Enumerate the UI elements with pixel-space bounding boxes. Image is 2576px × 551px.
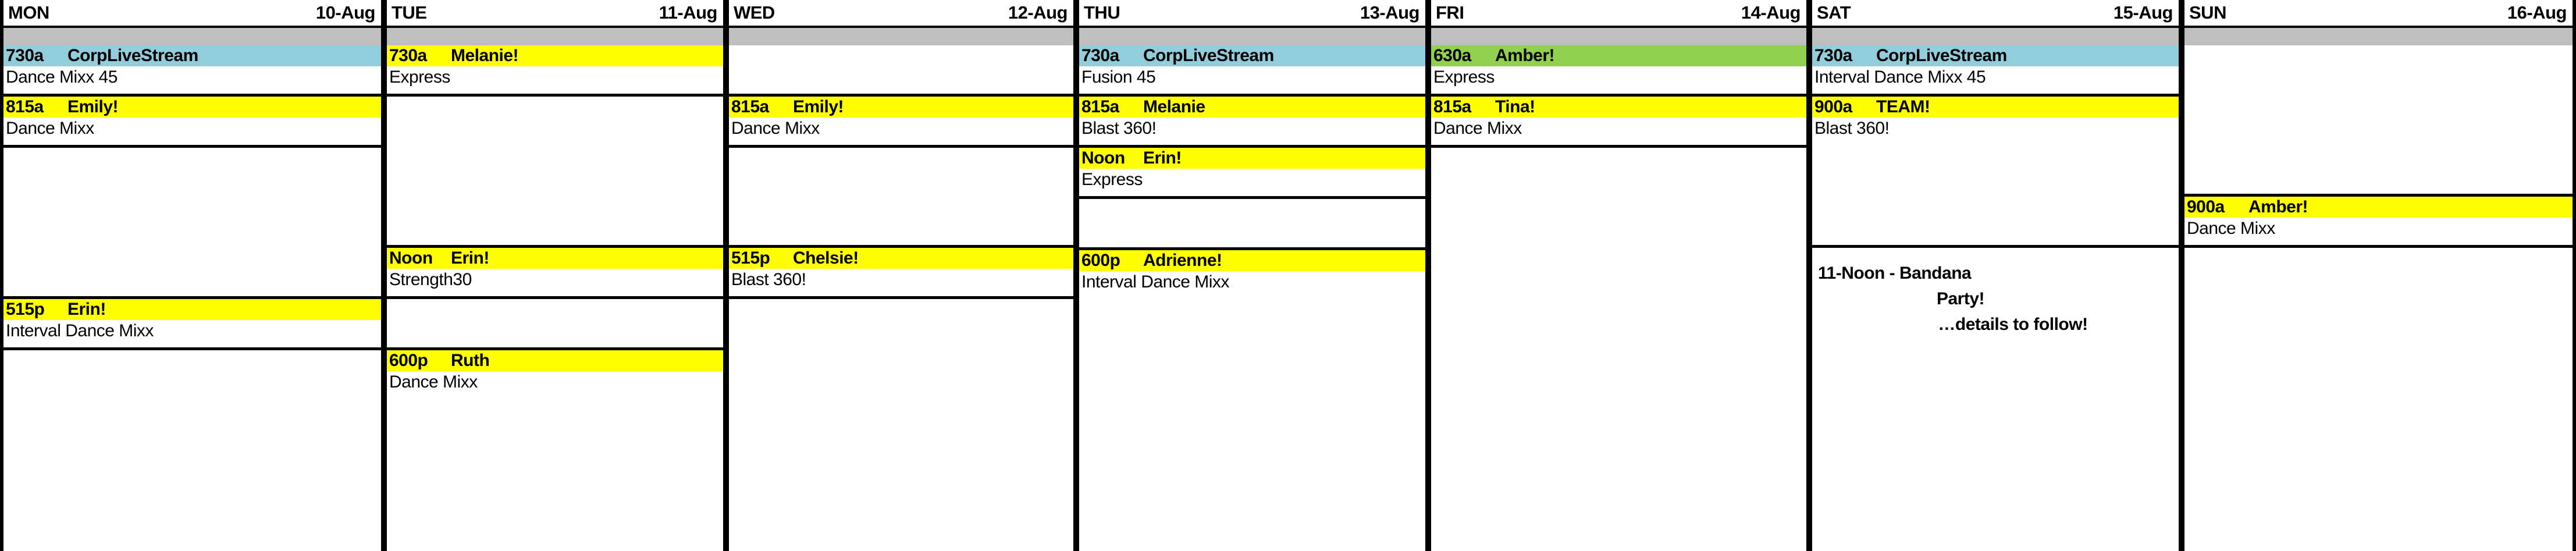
class-instructor: TEAM!	[1876, 97, 1930, 118]
class-name: Blast 360!	[729, 269, 1073, 291]
class-slot-filler	[729, 140, 1073, 145]
class-slot-header: 630aAmber!	[1431, 45, 1806, 66]
class-slot-header: 730aCorpLiveStream	[1812, 45, 2179, 66]
day-header-thu: THU13-Aug	[1079, 0, 1425, 28]
class-instructor: Ruth	[451, 350, 489, 371]
class-time: 900a	[1814, 97, 1876, 118]
class-slot-filler	[387, 88, 723, 94]
class-time: 600p	[1081, 250, 1143, 271]
class-time: 515p	[731, 248, 793, 269]
class-blocks-thu: 730aCorpLiveStreamFusion 45815aMelanieBl…	[1079, 45, 1425, 551]
class-slot-header: 815aMelanie	[1079, 97, 1425, 118]
day-date-label: 13-Aug	[1360, 0, 1419, 26]
class-name: Strength30	[387, 269, 723, 291]
class-time: 815a	[1433, 97, 1495, 118]
day-name-label: WED	[734, 0, 775, 26]
day-date-label: 14-Aug	[1741, 0, 1801, 26]
empty-slot[interactable]	[1431, 148, 1806, 551]
empty-slot[interactable]	[2184, 45, 2573, 197]
class-slot-filler	[1431, 88, 1806, 94]
class-time: 730a	[1814, 45, 1876, 66]
day-date-label: 10-Aug	[316, 0, 375, 26]
class-name: Interval Dance Mixx	[1079, 271, 1425, 293]
class-instructor: Tina!	[1495, 97, 1535, 118]
event-note-block[interactable]: 11-Noon - BandanaParty!…details to follo…	[1812, 248, 2179, 551]
empty-slot-area	[729, 45, 1073, 94]
empty-slot-area	[3, 148, 381, 296]
class-slot-filler	[387, 291, 723, 296]
day-header-tue: TUE11-Aug	[387, 0, 723, 28]
class-slot-filler	[729, 291, 1073, 296]
day-header-fri: FRI14-Aug	[1431, 0, 1806, 28]
class-slot-header: 600pRuth	[387, 350, 723, 371]
spacer-band-tue	[387, 28, 723, 45]
day-date-label: 12-Aug	[1008, 0, 1068, 26]
class-blocks-sun: 900aAmber!Dance Mixx	[2184, 45, 2573, 551]
empty-slot-area	[3, 350, 381, 551]
event-note-line: 11-Noon - Bandana	[1816, 261, 2175, 286]
class-slot-filler	[1079, 293, 1425, 551]
empty-slot-area	[387, 97, 723, 245]
empty-slot[interactable]	[3, 350, 381, 551]
class-slot-header: NoonErin!	[1079, 148, 1425, 169]
class-slot-filler	[1079, 191, 1425, 196]
spacer-band-fri	[1431, 28, 1806, 45]
class-name: Dance Mixx	[1431, 118, 1806, 140]
empty-slot[interactable]	[3, 148, 381, 299]
class-instructor: Melanie	[1143, 97, 1205, 118]
class-name: Express	[1079, 169, 1425, 191]
class-instructor: CorpLiveStream	[67, 45, 198, 66]
class-slot-header: 515pErin!	[3, 299, 381, 320]
day-column-sat: SAT15-Aug730aCorpLiveStreamInterval Danc…	[1809, 0, 2182, 551]
day-header-wed: WED12-Aug	[729, 0, 1073, 28]
class-blocks-fri: 630aAmber!Express815aTina!Dance Mixx	[1431, 45, 1806, 551]
class-slot-filler	[387, 393, 723, 551]
event-note: 11-Noon - BandanaParty!…details to follo…	[1812, 248, 2179, 337]
class-time: 630a	[1433, 45, 1495, 66]
class-instructor: CorpLiveStream	[1876, 45, 2007, 66]
class-slot[interactable]: 730aCorpLiveStreamInterval Dance Mixx 45	[1812, 45, 2179, 97]
class-time: Noon	[389, 248, 451, 269]
class-slot-filler	[3, 88, 381, 94]
class-instructor: Adrienne!	[1143, 250, 1222, 271]
class-name: Express	[387, 66, 723, 88]
class-time: 900a	[2187, 197, 2248, 218]
day-name-label: MON	[8, 0, 49, 26]
empty-slot[interactable]	[1079, 199, 1425, 250]
class-slot[interactable]: 600pAdrienne!Interval Dance Mixx	[1079, 250, 1425, 551]
empty-slot[interactable]	[729, 148, 1073, 248]
day-column-mon: MON10-Aug730aCorpLiveStreamDance Mixx 45…	[0, 0, 384, 551]
spacer-band-sun	[2184, 28, 2573, 45]
class-time: 815a	[731, 97, 793, 118]
class-slot[interactable]: NoonErin!Express	[1079, 148, 1425, 199]
class-name: Dance Mixx 45	[3, 66, 381, 88]
class-instructor: Erin!	[67, 299, 106, 320]
class-slot-header: 730aCorpLiveStream	[3, 45, 381, 66]
day-name-label: SUN	[2189, 0, 2226, 26]
empty-slot-area	[387, 299, 723, 347]
class-blocks-tue: 730aMelanie!ExpressNoonErin!Strength3060…	[387, 45, 723, 551]
class-instructor: Amber!	[2248, 197, 2308, 218]
class-slot-filler	[3, 342, 381, 347]
day-header-sun: SUN16-Aug	[2184, 0, 2573, 28]
event-note-line: Party!	[1816, 286, 2175, 312]
class-name: Interval Dance Mixx	[3, 320, 381, 342]
day-header-mon: MON10-Aug	[3, 0, 381, 28]
class-time: 730a	[6, 45, 67, 66]
class-slot-header: 815aTina!	[1431, 97, 1806, 118]
class-instructor: Amber!	[1495, 45, 1554, 66]
class-blocks-wed: 815aEmily!Dance Mixx515pChelsie!Blast 36…	[729, 45, 1073, 551]
class-time: 815a	[6, 97, 67, 118]
class-slot-filler	[1079, 88, 1425, 94]
class-slot[interactable]: 600pRuthDance Mixx	[387, 350, 723, 551]
class-name: Fusion 45	[1079, 66, 1425, 88]
class-slot-header: 815aEmily!	[729, 97, 1073, 118]
empty-slot[interactable]	[729, 299, 1073, 551]
class-name: Express	[1431, 66, 1806, 88]
class-time: 600p	[389, 350, 451, 371]
class-slot[interactable]: 730aCorpLiveStreamDance Mixx 45	[3, 45, 381, 97]
day-column-wed: WED12-Aug815aEmily!Dance Mixx515pChelsie…	[726, 0, 1076, 551]
class-slot-filler	[1079, 140, 1425, 145]
day-column-tue: TUE11-Aug730aMelanie!ExpressNoonErin!Str…	[384, 0, 726, 551]
class-instructor: CorpLiveStream	[1143, 45, 1274, 66]
day-header-sat: SAT15-Aug	[1812, 0, 2179, 28]
day-column-fri: FRI14-Aug630aAmber!Express815aTina!Dance…	[1428, 0, 1809, 551]
class-slot-header: 730aMelanie!	[387, 45, 723, 66]
class-name: Dance Mixx	[3, 118, 381, 140]
class-instructor: Melanie!	[451, 45, 518, 66]
class-slot[interactable]: 900aAmber!Dance Mixx	[2184, 197, 2573, 248]
spacer-band-mon	[3, 28, 381, 45]
class-slot-header: 515pChelsie!	[729, 248, 1073, 269]
day-name-label: SAT	[1817, 0, 1851, 26]
empty-slot-area	[729, 299, 1073, 551]
class-slot[interactable]: 630aAmber!Express	[1431, 45, 1806, 97]
day-date-label: 11-Aug	[659, 0, 717, 26]
day-name-label: FRI	[1436, 0, 1464, 26]
class-slot-filler	[1812, 88, 2179, 94]
class-time: 730a	[1081, 45, 1143, 66]
weekly-schedule-grid: MON10-Aug730aCorpLiveStreamDance Mixx 45…	[0, 0, 2576, 551]
class-instructor: Erin!	[1143, 148, 1182, 169]
class-slot[interactable]: 730aCorpLiveStreamFusion 45	[1079, 45, 1425, 97]
class-name: Dance Mixx	[387, 371, 723, 393]
empty-slot-area	[1079, 199, 1425, 247]
class-slot-filler	[1431, 140, 1806, 145]
class-slot-filler	[1812, 140, 2179, 245]
class-instructor: Emily!	[793, 97, 844, 118]
class-instructor: Erin!	[451, 248, 489, 269]
spacer-band-thu	[1079, 28, 1425, 45]
class-slot[interactable]: 900aTEAM!Blast 360!	[1812, 97, 2179, 248]
class-time: 815a	[1081, 97, 1143, 118]
empty-slot-area	[729, 148, 1073, 245]
empty-slot[interactable]	[729, 45, 1073, 97]
class-slot[interactable]: NoonErin!Strength30	[387, 248, 723, 299]
class-slot[interactable]: 815aEmily!Dance Mixx	[729, 97, 1073, 148]
class-slot[interactable]: 730aMelanie!Express	[387, 45, 723, 97]
empty-slot[interactable]	[2184, 248, 2573, 551]
empty-slot-area	[2184, 45, 2573, 194]
day-date-label: 16-Aug	[2507, 0, 2567, 26]
class-blocks-sat: 730aCorpLiveStreamInterval Dance Mixx 45…	[1812, 45, 2179, 551]
day-date-label: 15-Aug	[2114, 0, 2173, 26]
class-blocks-mon: 730aCorpLiveStreamDance Mixx 45815aEmily…	[3, 45, 381, 551]
day-column-sun: SUN16-Aug900aAmber!Dance Mixx	[2182, 0, 2576, 551]
class-name: Interval Dance Mixx 45	[1812, 66, 2179, 88]
class-time: 730a	[389, 45, 451, 66]
class-slot[interactable]: 815aTina!Dance Mixx	[1431, 97, 1806, 148]
class-slot-header: 900aTEAM!	[1812, 97, 2179, 118]
class-slot[interactable]: 515pErin!Interval Dance Mixx	[3, 299, 381, 350]
empty-slot-area	[2184, 248, 2573, 551]
class-slot-header: 815aEmily!	[3, 97, 381, 118]
class-slot-filler	[2184, 240, 2573, 245]
spacer-band-wed	[729, 28, 1073, 45]
spacer-band-sat	[1812, 28, 2179, 45]
class-slot-header: 730aCorpLiveStream	[1079, 45, 1425, 66]
class-instructor: Chelsie!	[793, 248, 859, 269]
day-name-label: THU	[1084, 0, 1120, 26]
day-name-label: TUE	[392, 0, 427, 26]
empty-slot[interactable]	[387, 299, 723, 350]
class-slot[interactable]: 515pChelsie!Blast 360!	[729, 248, 1073, 299]
class-slot-header: 600pAdrienne!	[1079, 250, 1425, 271]
class-instructor: Emily!	[67, 97, 118, 118]
class-time: 515p	[6, 299, 67, 320]
day-column-thu: THU13-Aug730aCorpLiveStreamFusion 45815a…	[1076, 0, 1428, 551]
class-slot[interactable]: 815aEmily!Dance Mixx	[3, 97, 381, 148]
class-time: Noon	[1081, 148, 1143, 169]
class-name: Blast 360!	[1079, 118, 1425, 140]
event-note-line: …details to follow!	[1816, 312, 2175, 337]
class-slot-header: NoonErin!	[387, 248, 723, 269]
empty-slot-area	[1431, 148, 1806, 551]
class-name: Dance Mixx	[2184, 218, 2573, 240]
empty-slot[interactable]	[387, 97, 723, 248]
class-slot-filler	[3, 140, 381, 145]
class-name: Dance Mixx	[729, 118, 1073, 140]
class-slot-header: 900aAmber!	[2184, 197, 2573, 218]
class-name: Blast 360!	[1812, 118, 2179, 140]
class-slot[interactable]: 815aMelanieBlast 360!	[1079, 97, 1425, 148]
